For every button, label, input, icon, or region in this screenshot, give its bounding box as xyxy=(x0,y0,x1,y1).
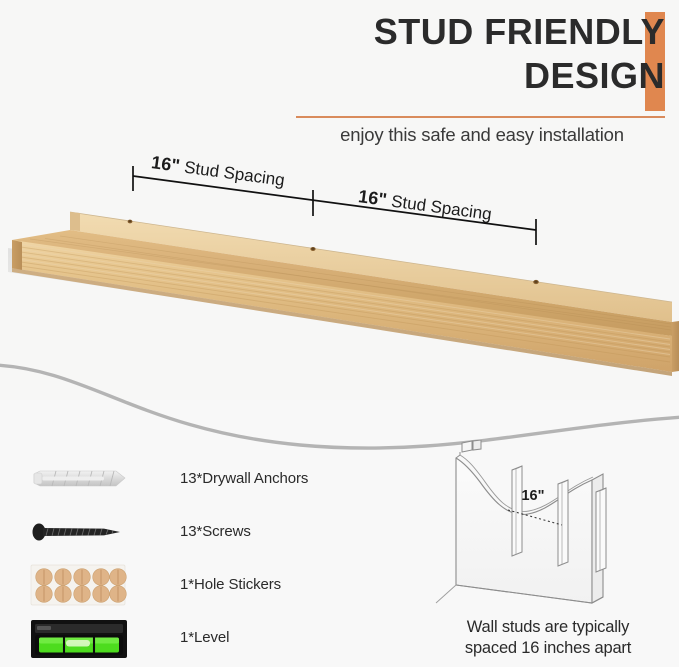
stud-spacing-measure-label: 16" xyxy=(521,488,544,504)
accent-divider-rule xyxy=(296,116,665,118)
drywall-anchor-icon xyxy=(30,456,150,502)
stud-diagram-caption: Wall studs are typically spaced 16 inche… xyxy=(418,617,678,659)
headline-block: STUD FRIENDLY DESIGN xyxy=(245,10,665,98)
screw-icon xyxy=(30,509,150,555)
level-icon xyxy=(30,615,150,661)
list-item: 13*Drywall Anchors xyxy=(30,452,370,505)
accessory-label: 1*Hole Stickers xyxy=(180,576,281,593)
accessory-label: 13*Screws xyxy=(180,523,251,540)
wall-stud xyxy=(596,488,606,572)
headline-line-2: DESIGN xyxy=(245,54,665,98)
sub-headline: enjoy this safe and easy installation xyxy=(296,124,668,146)
stud-caption-line-2: spaced 16 inches apart xyxy=(418,638,678,659)
list-item: 1*Level xyxy=(30,611,370,664)
wall-stud xyxy=(558,480,568,566)
hole-stickers-icon xyxy=(30,562,150,608)
product-infographic: STUD FRIENDLY DESIGN enjoy this safe and… xyxy=(0,0,679,667)
accessory-label: 13*Drywall Anchors xyxy=(180,470,308,487)
accessories-list: 13*Drywall Anchors xyxy=(30,452,370,664)
stud-caption-line-1: Wall studs are typically xyxy=(418,617,678,638)
wall-stud-diagram: 16" xyxy=(432,440,672,610)
accessory-label: 1*Level xyxy=(180,629,229,646)
list-item: 1*Hole Stickers xyxy=(30,558,370,611)
list-item: 13*Screws xyxy=(30,505,370,558)
headline-line-1: STUD FRIENDLY xyxy=(245,10,665,54)
